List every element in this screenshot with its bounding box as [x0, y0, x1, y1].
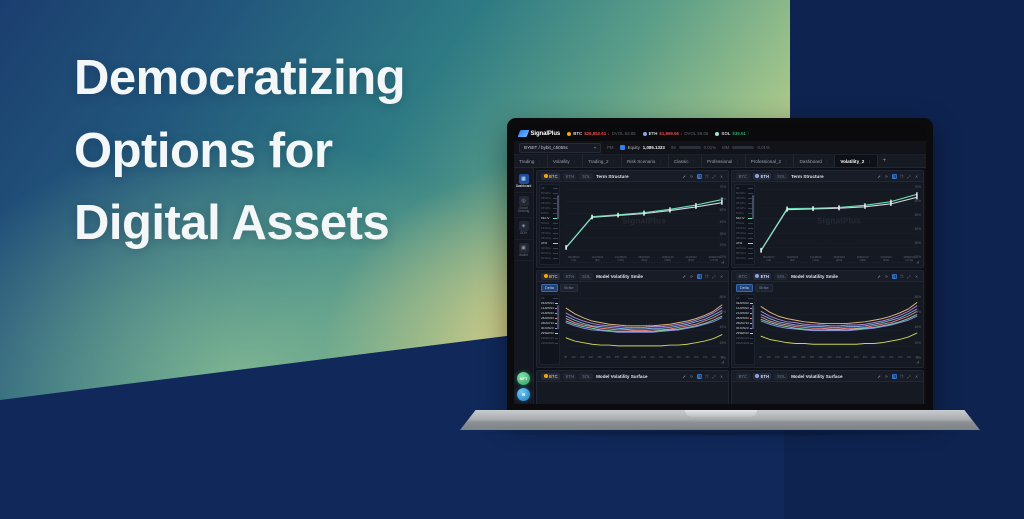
legend-item[interactable]: 26MAY23 [541, 321, 558, 325]
coin-toggle-eth[interactable]: ETH [753, 273, 772, 280]
tab-label: Volatility_2 [840, 159, 864, 164]
legend-item[interactable]: 50%Pu [736, 191, 753, 195]
legend-swatch [748, 193, 753, 194]
copy-icon[interactable]: ❐ [704, 274, 709, 279]
legend-item-label: 60%Ca [736, 257, 746, 260]
dashboard-icon: ▦ [519, 174, 529, 184]
legend-swatch [748, 253, 753, 254]
panel-toolbar: ⬈⟳▥❐⤢✕ [682, 374, 725, 379]
legend-item[interactable]: 50%Ca [541, 251, 558, 255]
im-readout: IM 0.01% [671, 145, 716, 150]
smart-desking-icon: ◎ [519, 196, 529, 206]
ticker-sol[interactable]: SOL $39.51 ↑ [715, 131, 749, 136]
legend-item[interactable]: ATM [541, 241, 558, 245]
panel-resize-handle[interactable]: ◢ [916, 360, 920, 364]
coin-toggle-sol[interactable]: SOL [774, 273, 788, 280]
legend-item[interactable]: 25%Ca [541, 231, 558, 235]
refresh-icon[interactable]: ⟳ [689, 174, 694, 179]
coin-toggle-label: BTC [549, 274, 558, 279]
legend-item-label: 29DEC23 [736, 337, 749, 340]
legend-item[interactable]: 15%Pu [736, 206, 753, 210]
coin-toggle-eth[interactable]: ETH [753, 173, 772, 180]
legend-scrollbar[interactable] [752, 305, 753, 329]
legend-item-label: 29SEP23 [541, 332, 554, 335]
sidebar-item-wallet[interactable]: ▣ Wallet [514, 240, 533, 262]
tab-menu-icon[interactable]: ⋮ [612, 159, 616, 164]
legend-item[interactable]: Mid IV [541, 216, 558, 220]
chart-legend[interactable]: All 09APR23 14APR23 21APR23 28APR23 26MA… [539, 294, 560, 365]
layout-icon[interactable]: ▥ [892, 174, 897, 179]
coin-toggle-label: ETH [761, 174, 769, 179]
legend-item-label: 35%Pu [541, 197, 551, 200]
layout-icon[interactable]: ▥ [892, 374, 897, 379]
y-axis-tick: 60% [915, 310, 921, 314]
x-axis: 5P10P15P20P25P30P35P40P45PATM45C40C35C30… [562, 356, 726, 365]
y-axis-tick: 40% [720, 220, 726, 224]
legend-item[interactable]: 21APR23 [736, 311, 753, 315]
legend-swatch [555, 338, 558, 339]
coin-toggle-label: SOL [582, 274, 591, 279]
toggle-strike[interactable]: Strike [755, 284, 773, 292]
legend-item-label: All [541, 297, 544, 300]
legend-item[interactable]: 60%Ca [541, 256, 558, 260]
legend-item[interactable]: All [736, 187, 753, 191]
legend-swatch [750, 303, 753, 304]
legend-item[interactable]: 29DEC23 [736, 336, 753, 340]
eth-icon [755, 374, 759, 378]
coin-toggle-btc[interactable]: BTC [736, 273, 750, 280]
mm-meter [732, 146, 754, 149]
refresh-icon[interactable]: ⟳ [884, 274, 889, 279]
btc-icon [544, 174, 548, 178]
legend-swatch [748, 233, 753, 234]
brand-logo: SignalPlus [519, 130, 560, 137]
legend-item[interactable]: 29MAR24 [541, 341, 558, 345]
ticker-dvol: DVOL 53.85 [612, 131, 636, 136]
ticker-price: $1,869.66 ↓ [659, 131, 682, 136]
ticker-strip: BTC $26,852.61 ↓ DVOL 53.85 ETH $1,869.6… [567, 131, 749, 136]
x-axis-tick: 25C [880, 356, 885, 359]
panel-resize-handle[interactable]: ◢ [916, 260, 920, 264]
panel-title: Model Volatility Smile [791, 274, 838, 279]
ticker-btc[interactable]: BTC $26,852.61 ↓ DVOL 53.85 [567, 131, 635, 136]
legend-swatch [553, 238, 558, 239]
legend-item-label: 60%Ca [541, 257, 551, 260]
panel-btc-model-volatility-smile: BTC ETH SOL Model Volatility Smile ⬈ ⟳ ▥… [536, 270, 729, 368]
legend-item[interactable]: 26MAY23 [736, 321, 753, 325]
refresh-icon[interactable]: ⟳ [884, 174, 889, 179]
panel-header: BTC ETH SOL Term Structure ⬈ ⟳ ▥ ❐ ⤢ ✕ [537, 171, 728, 182]
im-label: IM [671, 145, 676, 150]
panel-body: All 50%Pu 35%Pu 25%Pu 15%Pu 5%Pu Mid IV [732, 182, 923, 267]
x-axis-tick: 28APR23(20d) [638, 256, 650, 263]
ticker-price: $39.51 ↑ [732, 131, 749, 136]
legend-swatch [748, 223, 753, 224]
fullscreen-icon[interactable]: ⤢ [712, 174, 717, 179]
legend-item[interactable]: 60%Ca [736, 256, 753, 260]
app-top-bar: SignalPlus BTC $26,852.61 ↓ DVOL 53.85 E… [514, 126, 926, 141]
fullscreen-icon[interactable]: ⤢ [907, 174, 912, 179]
legend-item-label: 29MAR24 [541, 342, 554, 345]
legend-item-label: 15%Pu [541, 207, 551, 210]
x-axis-tick: 26MAY23(48d) [662, 256, 674, 263]
x-axis-tick: 25C [685, 356, 690, 359]
smile-axis-toggle: DeltaStrike [537, 282, 728, 292]
legend-item[interactable]: 15%Ca [736, 226, 753, 230]
tab-label: Classic [674, 159, 689, 164]
legend-swatch [553, 188, 558, 189]
tab-label: Trading [519, 159, 534, 164]
coin-toggle-label: SOL [777, 374, 786, 379]
panel-header: BTC ETH SOL Model Volatility Surface ⬈⟳▥… [537, 371, 728, 382]
tab-menu-icon[interactable]: ⋮ [735, 159, 739, 164]
ddh-icon: ◈ [519, 221, 529, 231]
chat-badge-icon[interactable]: ✉ [517, 388, 530, 401]
fullscreen-icon[interactable]: ⤢ [712, 274, 717, 279]
x-axis-tick: 30P [801, 356, 805, 359]
chart-plot-btc-model-volatility-smile[interactable]: SignalPlus 80%60%40%20%0% 5P10P15P20P25P… [562, 294, 726, 365]
add-tab-button[interactable]: + [878, 155, 892, 167]
copy-icon[interactable]: ❐ [704, 174, 709, 179]
legend-item-label: 50%Pu [541, 192, 551, 195]
coin-toggle-btc[interactable]: BTC [541, 173, 560, 180]
y-axis-tick: 80% [720, 295, 726, 299]
tab-risk-scenario[interactable]: Risk Scenario ⋮ [622, 155, 669, 167]
panel-title: Model Volatility Smile [596, 274, 643, 279]
panel-body: All 09APR23 14APR23 21APR23 28APR23 26MA… [537, 292, 728, 367]
x-axis-tick: 10C [712, 356, 717, 359]
coin-toggle-btc[interactable]: BTC [541, 273, 560, 280]
tab-menu-icon[interactable]: ⋮ [825, 159, 829, 164]
coin-toggle-sol[interactable]: SOL [774, 373, 788, 380]
x-axis-tick: 10P [571, 356, 575, 359]
legend-item[interactable]: 50%Pu [541, 191, 558, 195]
legend-swatch [553, 223, 558, 224]
legend-item-label: 5%Pu [541, 212, 549, 215]
coin-toggle-sol[interactable]: SOL [579, 373, 593, 380]
toggle-delta[interactable]: Delta [541, 284, 558, 292]
coin-toggle-label: ETH [566, 274, 574, 279]
close-icon[interactable]: ✕ [914, 374, 919, 379]
legend-item-label: 15%Ca [541, 227, 551, 230]
x-axis-tick: 30C [677, 356, 682, 359]
app-window: SignalPlus BTC $26,852.61 ↓ DVOL 53.85 E… [514, 126, 926, 404]
tab-menu-icon[interactable]: ⋮ [867, 159, 871, 164]
legend-item[interactable]: 5%Pu [736, 211, 753, 215]
close-icon[interactable]: ✕ [914, 274, 919, 279]
coin-toggle-sol[interactable]: SOL [774, 173, 788, 180]
x-axis-tick: 40P [623, 356, 627, 359]
copy-icon[interactable]: ❐ [704, 374, 709, 379]
legend-item-label: 15%Pu [736, 207, 746, 210]
x-axis-tick: 40C [854, 356, 859, 359]
x-axis-tick: 45P [632, 356, 636, 359]
legend-swatch [553, 298, 558, 299]
x-axis-tick: 30C [872, 356, 877, 359]
x-axis-tick: 15P [775, 356, 779, 359]
legend-item[interactable]: 5%Pu [541, 211, 558, 215]
y-axis-tick: 80% [915, 295, 921, 299]
legend-item[interactable]: Mid IV [736, 216, 753, 220]
legend-item-label: 25%Pu [541, 202, 551, 205]
toggle-delta[interactable]: Delta [736, 284, 753, 292]
chart-plot-eth-term-structure[interactable]: SignalPlus 70%60%50%40%30%20% 09APR23(1d… [757, 184, 921, 265]
legend-swatch [555, 343, 558, 344]
legend-swatch [748, 228, 753, 229]
workspace-tab-bar: Trading ⋮ Volatility ⋮ Trading_2 ⋮ Risk … [514, 155, 926, 168]
eth-icon [643, 132, 647, 136]
legend-item[interactable]: 09APR23 [541, 301, 558, 305]
account-selector[interactable]: BYBIT / bybit_c5055c ▾ [519, 143, 601, 153]
legend-item-label: 25%Pu [736, 202, 746, 205]
chart-plot-btc-term-structure[interactable]: SignalPlus 70%60%50%40%30%20%10% 09APR23… [562, 184, 726, 265]
legend-item-label: 15%Ca [736, 227, 746, 230]
layout-icon[interactable]: ▥ [892, 274, 897, 279]
expand-icon[interactable]: ⬈ [682, 374, 687, 379]
expand-icon[interactable]: ⬈ [877, 274, 882, 279]
legend-item[interactable]: 21APR23 [541, 311, 558, 315]
coin-toggle-label: SOL [777, 274, 786, 279]
legend-item-label: 40%Ca [736, 247, 746, 250]
tab-menu-icon[interactable]: ⋮ [692, 159, 696, 164]
account-selector-value: BYBIT / bybit_c5055c [524, 145, 568, 150]
expand-icon[interactable]: ⬈ [877, 374, 882, 379]
expand-icon[interactable]: ⬈ [877, 174, 882, 179]
tab-classic[interactable]: Classic ⋮ [669, 155, 702, 167]
legend-item[interactable]: 35%Ca [541, 236, 558, 240]
app-body: ▦ Dashboard ◎ Smart Desking ◈ DDH ▣ Wall… [514, 168, 926, 404]
x-axis-tick: 45C [650, 356, 655, 359]
legend-item[interactable]: 15%Ca [541, 226, 558, 230]
panel-toolbar: ⬈⟳▥❐⤢✕ [877, 374, 920, 379]
coin-toggle-btc[interactable]: BTC [541, 373, 560, 380]
chart-legend[interactable]: All 50%Pu 35%Pu 25%Pu 15%Pu 5%Pu Mid IV [734, 184, 755, 265]
tab-label: Professional [707, 159, 732, 164]
legend-swatch [750, 333, 753, 334]
legend-item-label: 35%Pu [736, 197, 746, 200]
coin-toggle-label: BTC [739, 374, 748, 379]
panel-resize-handle[interactable]: ◢ [721, 360, 725, 364]
legend-item[interactable]: 40%Ca [541, 246, 558, 250]
coin-toggle-label: ETH [566, 174, 574, 179]
legend-item[interactable]: 40%Ca [736, 246, 753, 250]
panel-title: Term Structure [596, 174, 629, 179]
refresh-icon[interactable]: ⟳ [689, 274, 694, 279]
panel-eth-term-structure: BTC ETH SOL Term Structure ⬈ ⟳ ▥ ❐ ⤢ ✕ A… [731, 170, 924, 268]
ticker-eth[interactable]: ETH $1,869.66 ↓ DVOL 59.06 [643, 131, 709, 136]
x-axis-tick: 35C [863, 356, 868, 359]
legend-item[interactable]: 29SEP23 [736, 331, 753, 335]
legend-item[interactable]: 29MAR24 [736, 341, 753, 345]
nft-badge-icon[interactable]: NFT [517, 372, 530, 385]
sidebar: ▦ Dashboard ◎ Smart Desking ◈ DDH ▣ Wall… [514, 168, 534, 404]
legend-item[interactable]: 35%Ca [736, 236, 753, 240]
x-axis-tick: 15C [703, 356, 708, 359]
legend-item-label: 09APR23 [736, 302, 749, 305]
panel-resize-handle[interactable]: ◢ [721, 260, 725, 264]
panel-title: Term Structure [791, 174, 824, 179]
x-axis-tick: 25P [792, 356, 796, 359]
legend-item-label: 40%Ca [541, 247, 551, 250]
sidebar-item-label: Smart Desking [514, 207, 533, 214]
fullscreen-icon[interactable]: ⤢ [712, 374, 717, 379]
panel-toolbar: ⬈ ⟳ ▥ ❐ ⤢ ✕ [682, 274, 725, 279]
mm-readout: MM 0.01% [722, 145, 770, 150]
sidebar-item-dashboard[interactable]: ▦ Dashboard [514, 171, 533, 193]
coin-toggle-label: ETH [761, 274, 769, 279]
legend-item[interactable]: 29DEC23 [541, 336, 558, 340]
legend-item-label: 5%Ca [736, 222, 744, 225]
tab-professional-2[interactable]: Professional_2 ⋮ [746, 155, 795, 167]
legend-scrollbar[interactable] [557, 305, 558, 329]
expand-icon[interactable]: ⬈ [682, 274, 687, 279]
legend-item[interactable]: 28APR23 [736, 316, 753, 320]
legend-swatch [555, 333, 558, 334]
legend-item-label: 5%Ca [541, 222, 549, 225]
x-axis-tick: 35P [810, 356, 814, 359]
refresh-icon[interactable]: ⟳ [884, 374, 889, 379]
legend-item[interactable]: 25%Ca [736, 231, 753, 235]
tab-trading[interactable]: Trading ⋮ [514, 155, 548, 167]
legend-scrollbar[interactable] [752, 195, 753, 219]
legend-item[interactable]: 5%Ca [541, 221, 558, 225]
coin-toggle-sol[interactable]: SOL [579, 173, 593, 180]
legend-item-label: 26MAY23 [736, 322, 749, 325]
legend-item[interactable]: 28APR23 [541, 316, 558, 320]
tab-menu-icon[interactable]: ⋮ [573, 159, 577, 164]
x-axis: 09APR23(1d)14APR23(6d)21APR23(13d)28APR2… [757, 256, 921, 265]
legend-item-label: 30JUN23 [541, 327, 554, 330]
tab-dashboard[interactable]: Dashboard ⋮ [794, 155, 835, 167]
tab-menu-icon[interactable]: ⋮ [658, 159, 662, 164]
tab-menu-icon[interactable]: ⋮ [784, 159, 788, 164]
ticker-symbol: SOL [721, 131, 730, 136]
layout-icon[interactable]: ▥ [697, 174, 702, 179]
x-axis-tick: 28APR23(20d) [833, 256, 845, 263]
fullscreen-icon[interactable]: ⤢ [907, 374, 912, 379]
x-axis-tick: ATM [641, 356, 646, 359]
chart-plot-eth-model-volatility-smile[interactable]: SignalPlus 80%60%40%20%0% 5P10P15P20P25P… [757, 294, 921, 365]
legend-item-label: 14APR23 [736, 307, 749, 310]
x-axis-tick: 25P [597, 356, 601, 359]
legend-item[interactable]: 09APR23 [736, 301, 753, 305]
legend-item[interactable]: 25%Pu [736, 201, 753, 205]
copy-icon[interactable]: ❐ [899, 174, 904, 179]
legend-item[interactable]: All [541, 297, 558, 301]
legend-item[interactable]: 14APR23 [541, 306, 558, 310]
legend-swatch [750, 343, 753, 344]
y-axis-tick: 50% [720, 208, 726, 212]
x-axis-tick: 45C [845, 356, 850, 359]
tab-menu-icon[interactable]: ⋮ [537, 159, 541, 164]
layout-icon[interactable]: ▥ [697, 374, 702, 379]
tab-trading-2[interactable]: Trading_2 ⋮ [583, 155, 622, 167]
toggle-strike[interactable]: Strike [560, 284, 578, 292]
legend-swatch [553, 248, 558, 249]
sidebar-item-ddh[interactable]: ◈ DDH [514, 218, 533, 240]
ticker-dvol: DVOL 59.06 [684, 131, 708, 136]
legend-item[interactable]: 35%Pu [541, 196, 558, 200]
tab-label: Professional_2 [751, 159, 781, 164]
close-icon[interactable]: ✕ [719, 374, 724, 379]
panel-eth-model-volatility-smile: BTC ETH SOL Model Volatility Smile ⬈ ⟳ ▥… [731, 270, 924, 368]
chart-legend[interactable]: All 50%Pu 35%Pu 25%Pu 15%Pu 5%Pu Mid IV [539, 184, 560, 265]
coin-toggle-eth[interactable]: ETH [563, 273, 576, 280]
legend-item[interactable]: 35%Pu [736, 196, 753, 200]
legend-item[interactable]: 5%Ca [736, 221, 753, 225]
legend-item[interactable]: 50%Ca [736, 251, 753, 255]
coin-toggle-btc[interactable]: BTC [736, 373, 750, 380]
legend-item-label: Mid IV [541, 217, 550, 220]
chart-legend[interactable]: All 09APR23 14APR23 21APR23 28APR23 26MA… [734, 294, 755, 365]
coin-toggle-eth[interactable]: ETH [563, 173, 576, 180]
copy-icon[interactable]: ❐ [899, 374, 904, 379]
legend-item-label: 50%Ca [736, 252, 746, 255]
legend-item-label: 25%Ca [541, 232, 551, 235]
legend-item[interactable]: 30JUN23 [541, 326, 558, 330]
x-axis-tick: ATM [836, 356, 841, 359]
eth-icon [755, 174, 759, 178]
close-icon[interactable]: ✕ [719, 274, 724, 279]
close-icon[interactable]: ✕ [719, 174, 724, 179]
x-axis: 09APR23(1d)14APR23(6d)21APR23(13d)28APR2… [562, 256, 726, 265]
legend-swatch [553, 243, 558, 244]
coin-toggle-eth[interactable]: ETH [563, 373, 576, 380]
legend-item[interactable]: 30JUN23 [736, 326, 753, 330]
tab-professional[interactable]: Professional ⋮ [702, 155, 746, 167]
x-axis-tick: 26MAY23(48d) [857, 256, 869, 263]
panel-btc-model-volatility-surface: BTC ETH SOL Model Volatility Surface ⬈⟳▥… [536, 370, 729, 404]
fullscreen-icon[interactable]: ⤢ [907, 274, 912, 279]
legend-item[interactable]: ATM [736, 241, 753, 245]
legend-scrollbar[interactable] [557, 195, 558, 219]
y-axis-tick: 40% [915, 227, 921, 231]
panel-toolbar: ⬈ ⟳ ▥ ❐ ⤢ ✕ [682, 174, 725, 179]
coin-toggle-label: BTC [739, 274, 748, 279]
close-icon[interactable]: ✕ [914, 174, 919, 179]
expand-icon[interactable]: ⬈ [682, 174, 687, 179]
im-meter [679, 146, 701, 149]
coin-toggle-sol[interactable]: SOL [579, 273, 593, 280]
coin-toggle-label: ETH [566, 374, 574, 379]
legend-item[interactable]: All [541, 187, 558, 191]
legend-item[interactable]: 29SEP23 [541, 331, 558, 335]
panel-header: BTC ETH SOL Model Volatility Smile ⬈ ⟳ ▥… [537, 271, 728, 282]
legend-item-label: ATM [541, 242, 547, 245]
tab-volatility-2[interactable]: Volatility_2 ⋮ [835, 155, 877, 167]
tab-label: Dashboard [799, 159, 821, 164]
y-axis: 80%60%40%20%0% [908, 294, 921, 365]
legend-item[interactable]: 14APR23 [736, 306, 753, 310]
y-axis-tick: 70% [915, 185, 921, 189]
legend-item[interactable]: 25%Pu [541, 201, 558, 205]
copy-icon[interactable]: ❐ [899, 274, 904, 279]
coin-toggle-btc[interactable]: BTC [736, 173, 750, 180]
refresh-icon[interactable]: ⟳ [689, 374, 694, 379]
legend-item[interactable]: All [736, 297, 753, 301]
equity-label: Equity [628, 145, 640, 150]
coin-toggle-eth[interactable]: ETH [753, 373, 772, 380]
sidebar-item-smart-desking[interactable]: ◎ Smart Desking [514, 193, 533, 218]
tab-volatility[interactable]: Volatility ⋮ [548, 155, 583, 167]
x-axis-tick: 35C [668, 356, 673, 359]
legend-item-label: 29SEP23 [736, 332, 749, 335]
legend-item[interactable]: 15%Pu [541, 206, 558, 210]
layout-icon[interactable]: ▥ [697, 274, 702, 279]
y-axis: 80%60%40%20%0% [713, 294, 726, 365]
legend-item-label: Mid IV [736, 217, 745, 220]
legend-swatch [750, 338, 753, 339]
